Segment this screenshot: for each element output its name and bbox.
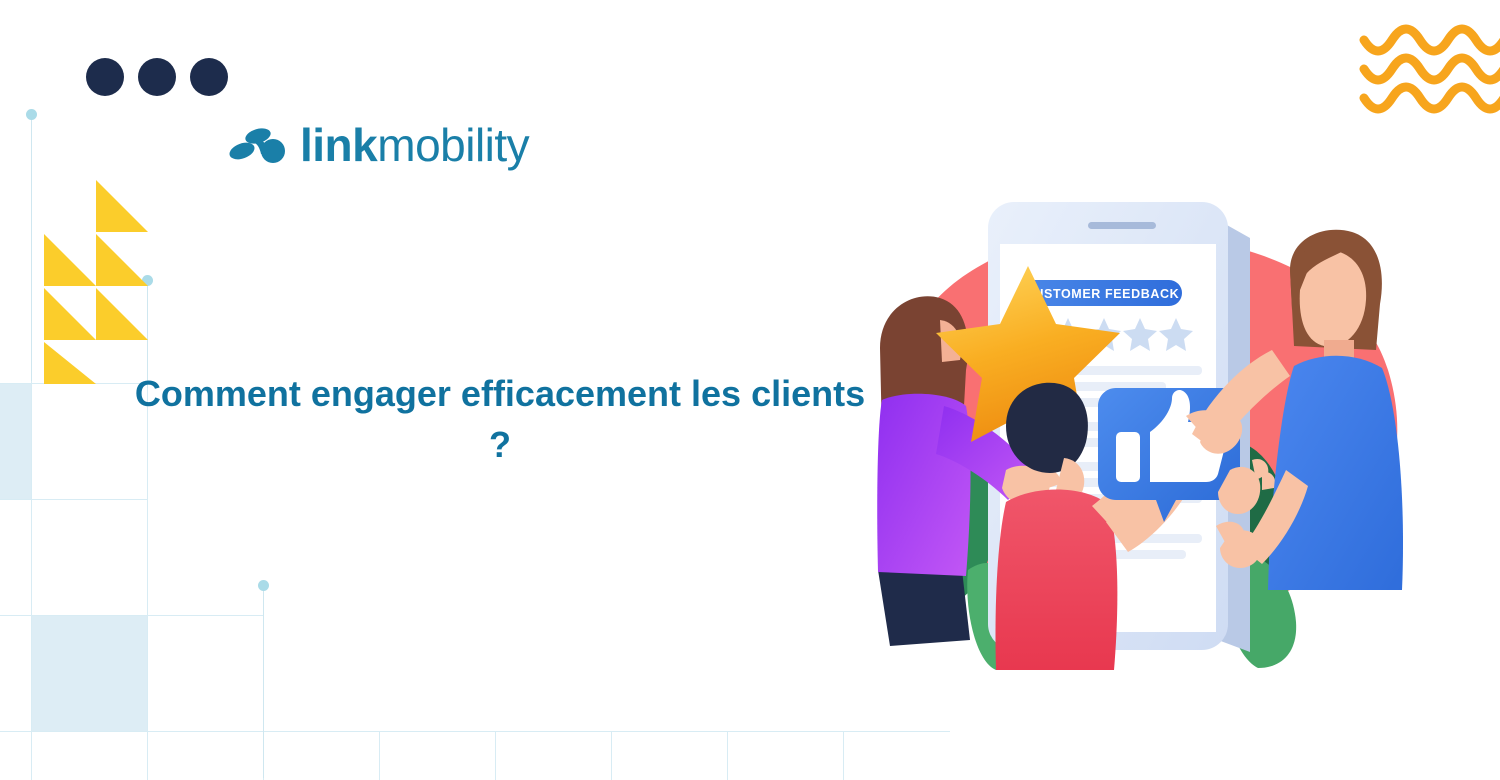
- brand-name-light: mobility: [377, 119, 529, 171]
- triangle-pattern-decoration: [38, 178, 154, 386]
- grid-line-v: [495, 732, 496, 780]
- grid-line-v: [843, 732, 844, 780]
- grid-line-h: [0, 615, 263, 616]
- customer-feedback-illustration: CUSTOMER FEEDBACK: [820, 170, 1440, 680]
- waves-svg: [1340, 22, 1500, 122]
- navy-dots-decoration: [86, 58, 228, 96]
- customer-feedback-badge: CUSTOMER FEEDBACK: [1022, 280, 1182, 306]
- slide-canvas: linkmobility Comment engager efficacemen…: [0, 0, 1500, 780]
- navy-dot: [138, 58, 176, 96]
- brand-logo[interactable]: linkmobility: [228, 122, 529, 168]
- brand-logo-text: linkmobility: [300, 122, 529, 168]
- triangle-pattern-svg: [38, 178, 154, 386]
- grid-line-v: [727, 732, 728, 780]
- grid-line-h: [0, 731, 950, 732]
- orange-waves-decoration: [1340, 22, 1500, 122]
- grid-cell-filled-a: [0, 383, 31, 499]
- navy-dot: [86, 58, 124, 96]
- grid-line-v: [611, 732, 612, 780]
- grid-cell-filled-b: [31, 615, 147, 731]
- link-mobility-logo-mark-icon: [228, 123, 290, 167]
- navy-dot: [190, 58, 228, 96]
- grid-line-h: [0, 499, 147, 500]
- badge-label: CUSTOMER FEEDBACK: [1025, 287, 1179, 301]
- illustration-svg: CUSTOMER FEEDBACK: [820, 170, 1440, 680]
- grid-line-v: [379, 732, 380, 780]
- page-title: Comment engager efficacement les clients…: [120, 368, 880, 470]
- brand-name-bold: link: [300, 119, 377, 171]
